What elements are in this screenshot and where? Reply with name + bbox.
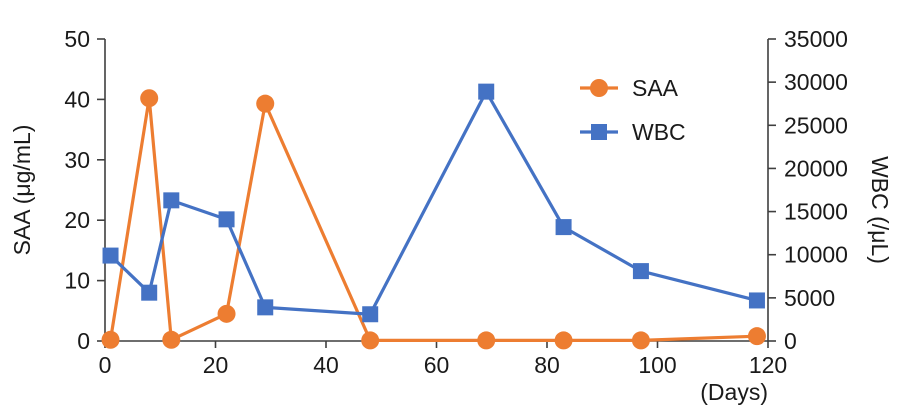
x-tick-label: 60 bbox=[424, 352, 450, 378]
data-point-saa[interactable] bbox=[218, 305, 236, 323]
chart-svg: 01020304050 0500010000150002000025000300… bbox=[0, 0, 900, 413]
right-tick-label: 25000 bbox=[784, 112, 848, 138]
right-tick-label: 5000 bbox=[784, 285, 835, 311]
left-tick-label: 20 bbox=[64, 207, 90, 233]
x-tick-label: 20 bbox=[203, 352, 229, 378]
x-tick-label: 40 bbox=[313, 352, 339, 378]
data-point-wbc[interactable] bbox=[362, 306, 378, 322]
data-point-wbc[interactable] bbox=[219, 211, 235, 227]
data-point-saa[interactable] bbox=[748, 327, 766, 345]
left-tick-label: 50 bbox=[64, 26, 90, 52]
data-point-wbc[interactable] bbox=[103, 248, 119, 264]
data-point-saa[interactable] bbox=[256, 95, 274, 113]
data-point-saa[interactable] bbox=[632, 331, 650, 349]
right-tick-label: 35000 bbox=[784, 26, 848, 52]
left-tick-label: 0 bbox=[77, 328, 90, 354]
data-point-wbc[interactable] bbox=[633, 263, 649, 279]
right-tick-label: 15000 bbox=[784, 199, 848, 225]
data-point-wbc[interactable] bbox=[163, 192, 179, 208]
right-axis-title: WBC (/μL) bbox=[867, 156, 893, 264]
data-point-wbc[interactable] bbox=[257, 299, 273, 315]
legend-marker-saa bbox=[590, 79, 608, 97]
left-tick-label: 40 bbox=[64, 86, 90, 112]
right-tick-label: 30000 bbox=[784, 69, 848, 95]
data-point-saa[interactable] bbox=[162, 331, 180, 349]
right-tick-label: 0 bbox=[784, 328, 797, 354]
legend-marker-wbc bbox=[591, 124, 607, 140]
right-tick-label: 20000 bbox=[784, 155, 848, 181]
x-tick-label: 80 bbox=[534, 352, 560, 378]
legend-label-wbc: WBC bbox=[632, 119, 686, 145]
data-point-wbc[interactable] bbox=[141, 285, 157, 301]
data-point-saa[interactable] bbox=[361, 331, 379, 349]
data-point-saa[interactable] bbox=[140, 89, 158, 107]
data-point-wbc[interactable] bbox=[556, 219, 572, 235]
data-point-wbc[interactable] bbox=[478, 84, 494, 100]
left-tick-label: 10 bbox=[64, 268, 90, 294]
left-tick-label: 30 bbox=[64, 147, 90, 173]
x-tick-label: 100 bbox=[638, 352, 676, 378]
legend-label-saa: SAA bbox=[632, 75, 679, 101]
chart-container: 01020304050 0500010000150002000025000300… bbox=[0, 0, 900, 413]
data-point-wbc[interactable] bbox=[749, 292, 765, 308]
x-tick-label: 120 bbox=[749, 352, 787, 378]
x-axis-units-label: (Days) bbox=[700, 379, 768, 405]
data-point-saa[interactable] bbox=[477, 331, 495, 349]
data-point-saa[interactable] bbox=[102, 331, 120, 349]
left-axis-title: SAA (μg/mL) bbox=[9, 125, 35, 256]
x-tick-label: 0 bbox=[99, 352, 112, 378]
right-tick-label: 10000 bbox=[784, 242, 848, 268]
data-point-saa[interactable] bbox=[555, 331, 573, 349]
